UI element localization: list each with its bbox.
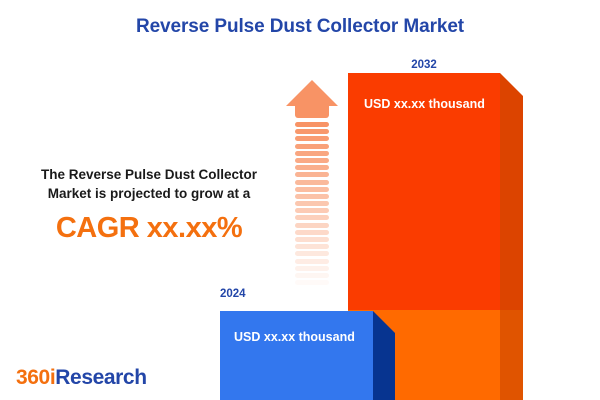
arrow-rung: [295, 223, 329, 228]
arrow-rung: [295, 151, 329, 156]
arrow-neck-icon: [295, 105, 329, 118]
arrow-rung: [295, 136, 329, 141]
arrow-rung: [295, 122, 329, 127]
arrow-rung: [295, 251, 329, 256]
arrow-rung: [295, 215, 329, 220]
arrow-head-icon: [286, 80, 338, 106]
arrow-rung: [295, 266, 329, 271]
brand-logo: 360iResearch: [16, 366, 147, 390]
arrow-shaft-icon: [295, 122, 329, 292]
growth-arrow-icon: [286, 80, 338, 292]
arrow-rung: [295, 187, 329, 192]
cagr-statement: The Reverse Pulse Dust Collector Market …: [18, 165, 280, 244]
arrow-rung: [295, 194, 329, 199]
arrow-rung: [295, 144, 329, 149]
statement-line-1: The Reverse Pulse Dust Collector: [18, 165, 280, 184]
statement-line-2: Market is projected to grow at a: [18, 184, 280, 203]
arrow-rung: [295, 158, 329, 163]
bar-2024-front-face: [220, 311, 373, 400]
market-infographic: Reverse Pulse Dust Collector Market The …: [0, 0, 600, 400]
arrow-rung: [295, 165, 329, 170]
arrow-rung: [295, 201, 329, 206]
bar-2024-value-label: USD xx.xx thousand: [234, 330, 355, 344]
arrow-rung: [295, 208, 329, 213]
arrow-rung: [295, 180, 329, 185]
arrow-rung: [295, 273, 329, 278]
arrow-rung: [295, 280, 329, 285]
logo-mark-text: 360i: [16, 366, 55, 389]
arrow-rung: [295, 244, 329, 249]
arrow-rung: [295, 172, 329, 177]
arrow-rung: [295, 230, 329, 235]
bar-2032-lower-side-face: [500, 310, 523, 400]
arrow-rung: [295, 259, 329, 264]
page-title: Reverse Pulse Dust Collector Market: [0, 16, 600, 38]
bar-2032-value-label: USD xx.xx thousand: [364, 97, 485, 111]
arrow-rung: [295, 237, 329, 242]
cagr-value: CAGR xx.xx%: [18, 212, 280, 244]
bar-label-year-2032: 2032: [348, 59, 500, 71]
bar-label-year-2024: 2024: [220, 288, 320, 300]
logo-word-text: Research: [55, 366, 146, 389]
arrow-rung: [295, 129, 329, 134]
